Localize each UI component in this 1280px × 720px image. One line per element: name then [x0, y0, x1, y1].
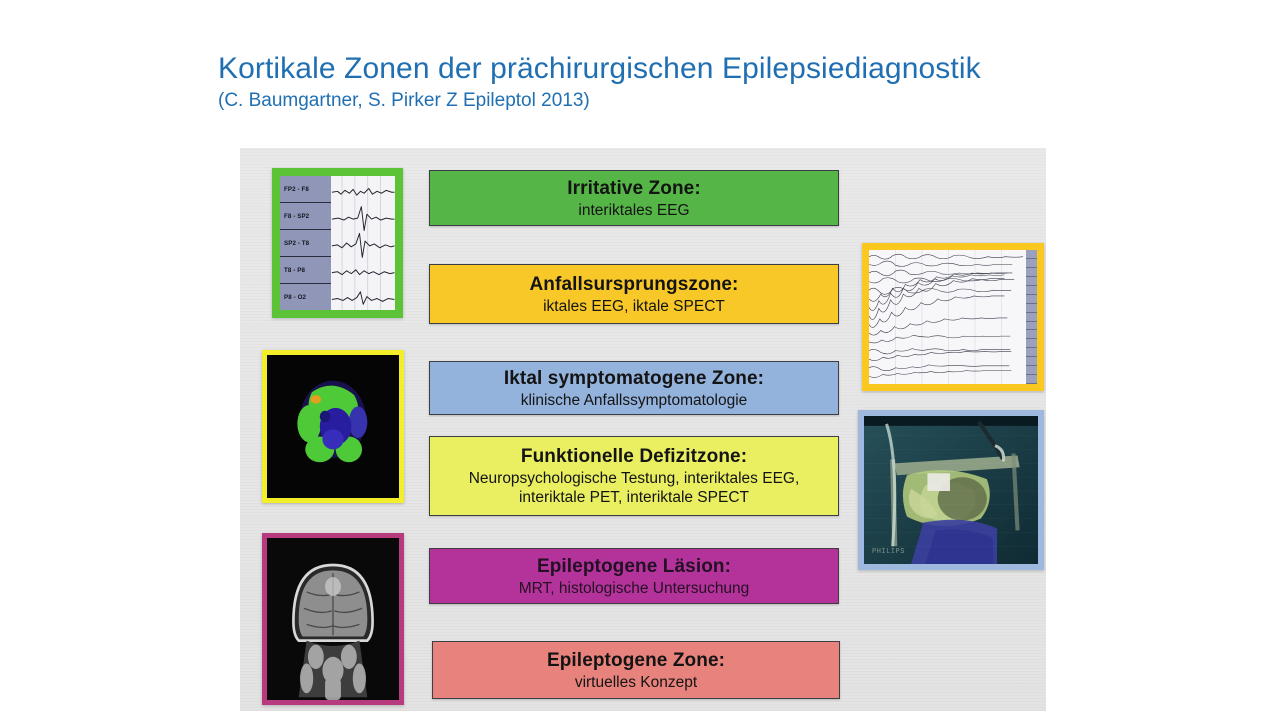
- eeg-channel-label: SP2 - T8: [280, 230, 331, 257]
- panel-video-monitoring: PHILIPS: [858, 410, 1044, 570]
- zone-subtitle: klinische Anfallssymptomatologie: [521, 391, 748, 410]
- zone-bar-ictal-symptomatogenic[interactable]: Iktal symptomatogene Zone: klinische Anf…: [429, 361, 839, 415]
- scale-tick: [1026, 339, 1037, 348]
- panel-spect: [262, 350, 404, 503]
- eeg-channel-label: FP2 - F8: [280, 176, 331, 203]
- zone-subtitle: interiktales EEG: [578, 201, 689, 220]
- zone-bar-epileptogenic-lesion[interactable]: Epileptogene Läsion: MRT, histologische …: [429, 548, 839, 604]
- zone-heading: Irritative Zone:: [567, 177, 701, 200]
- title-citation: (C. Baumgartner, S. Pirker Z Epileptol 2…: [218, 89, 1118, 113]
- eeg-channel-scale-bar: [1026, 250, 1037, 384]
- title-block: Kortikale Zonen der prächirurgischen Epi…: [218, 52, 1118, 113]
- scale-tick: [1026, 268, 1037, 277]
- zone-heading: Funktionelle Defizitzone:: [521, 445, 747, 468]
- multichannel-eeg-icon: [869, 250, 1026, 384]
- scale-tick: [1026, 375, 1037, 384]
- zone-bar-epileptogenic-zone[interactable]: Epileptogene Zone: virtuelles Konzept: [432, 641, 840, 699]
- figure-diagram: FP2 - F8 F8 - SP2 SP2 - T8 T8 - P8 P8 - …: [240, 148, 1046, 711]
- scale-tick: [1026, 357, 1037, 366]
- panel-mri: [262, 533, 404, 705]
- scale-tick: [1026, 295, 1037, 304]
- eeg-spikes-inner: FP2 - F8 F8 - SP2 SP2 - T8 T8 - P8 P8 - …: [280, 176, 395, 310]
- eeg-channel-label-column: FP2 - F8 F8 - SP2 SP2 - T8 T8 - P8 P8 - …: [280, 176, 331, 310]
- scale-tick: [1026, 250, 1037, 259]
- zone-heading: Epileptogene Zone:: [547, 649, 725, 672]
- video-eeg-monitoring-icon: PHILIPS: [864, 416, 1038, 564]
- zone-bar-functional-deficit[interactable]: Funktionelle Defizitzone: Neuropsycholog…: [429, 436, 839, 516]
- scale-tick: [1026, 330, 1037, 339]
- panel-eeg-multichannel: [862, 243, 1044, 391]
- zone-subtitle-line2: interiktale PET, interiktale SPECT: [519, 488, 749, 507]
- zone-heading: Iktal symptomatogene Zone:: [504, 367, 764, 390]
- zone-heading: Anfallsursprungszone:: [529, 273, 738, 296]
- eeg-channel-label: P8 - O2: [280, 284, 331, 310]
- eeg-trace-icon: [331, 176, 395, 310]
- zone-subtitle: MRT, histologische Untersuchung: [519, 579, 750, 598]
- slide: Kortikale Zonen der prächirurgischen Epi…: [0, 0, 1280, 720]
- scale-tick: [1026, 304, 1037, 313]
- mri-coronal-brain-icon: [267, 538, 399, 700]
- zone-heading: Epileptogene Läsion:: [537, 555, 731, 578]
- scale-tick: [1026, 277, 1037, 286]
- scale-tick: [1026, 286, 1037, 295]
- video-watermark: PHILIPS: [872, 548, 905, 556]
- scale-tick: [1026, 366, 1037, 375]
- zone-bar-seizure-onset[interactable]: Anfallsursprungszone: iktales EEG, iktal…: [429, 264, 839, 324]
- zone-subtitle: iktales EEG, iktale SPECT: [543, 297, 725, 316]
- scale-tick: [1026, 259, 1037, 268]
- zone-bar-irritative[interactable]: Irritative Zone: interiktales EEG: [429, 170, 839, 226]
- eeg-channel-label: T8 - P8: [280, 257, 331, 284]
- page-title: Kortikale Zonen der prächirurgischen Epi…: [218, 52, 1118, 86]
- scale-tick: [1026, 313, 1037, 322]
- eeg-multichannel-inner: [869, 250, 1037, 384]
- zone-subtitle: Neuropsychologische Testung, interiktale…: [469, 469, 800, 488]
- scale-tick: [1026, 348, 1037, 357]
- scale-tick: [1026, 322, 1037, 331]
- zone-subtitle: virtuelles Konzept: [575, 673, 697, 692]
- eeg-channel-label: F8 - SP2: [280, 203, 331, 230]
- panel-eeg-spikes: FP2 - F8 F8 - SP2 SP2 - T8 T8 - P8 P8 - …: [272, 168, 403, 318]
- spect-brain-scan-icon: [267, 355, 399, 498]
